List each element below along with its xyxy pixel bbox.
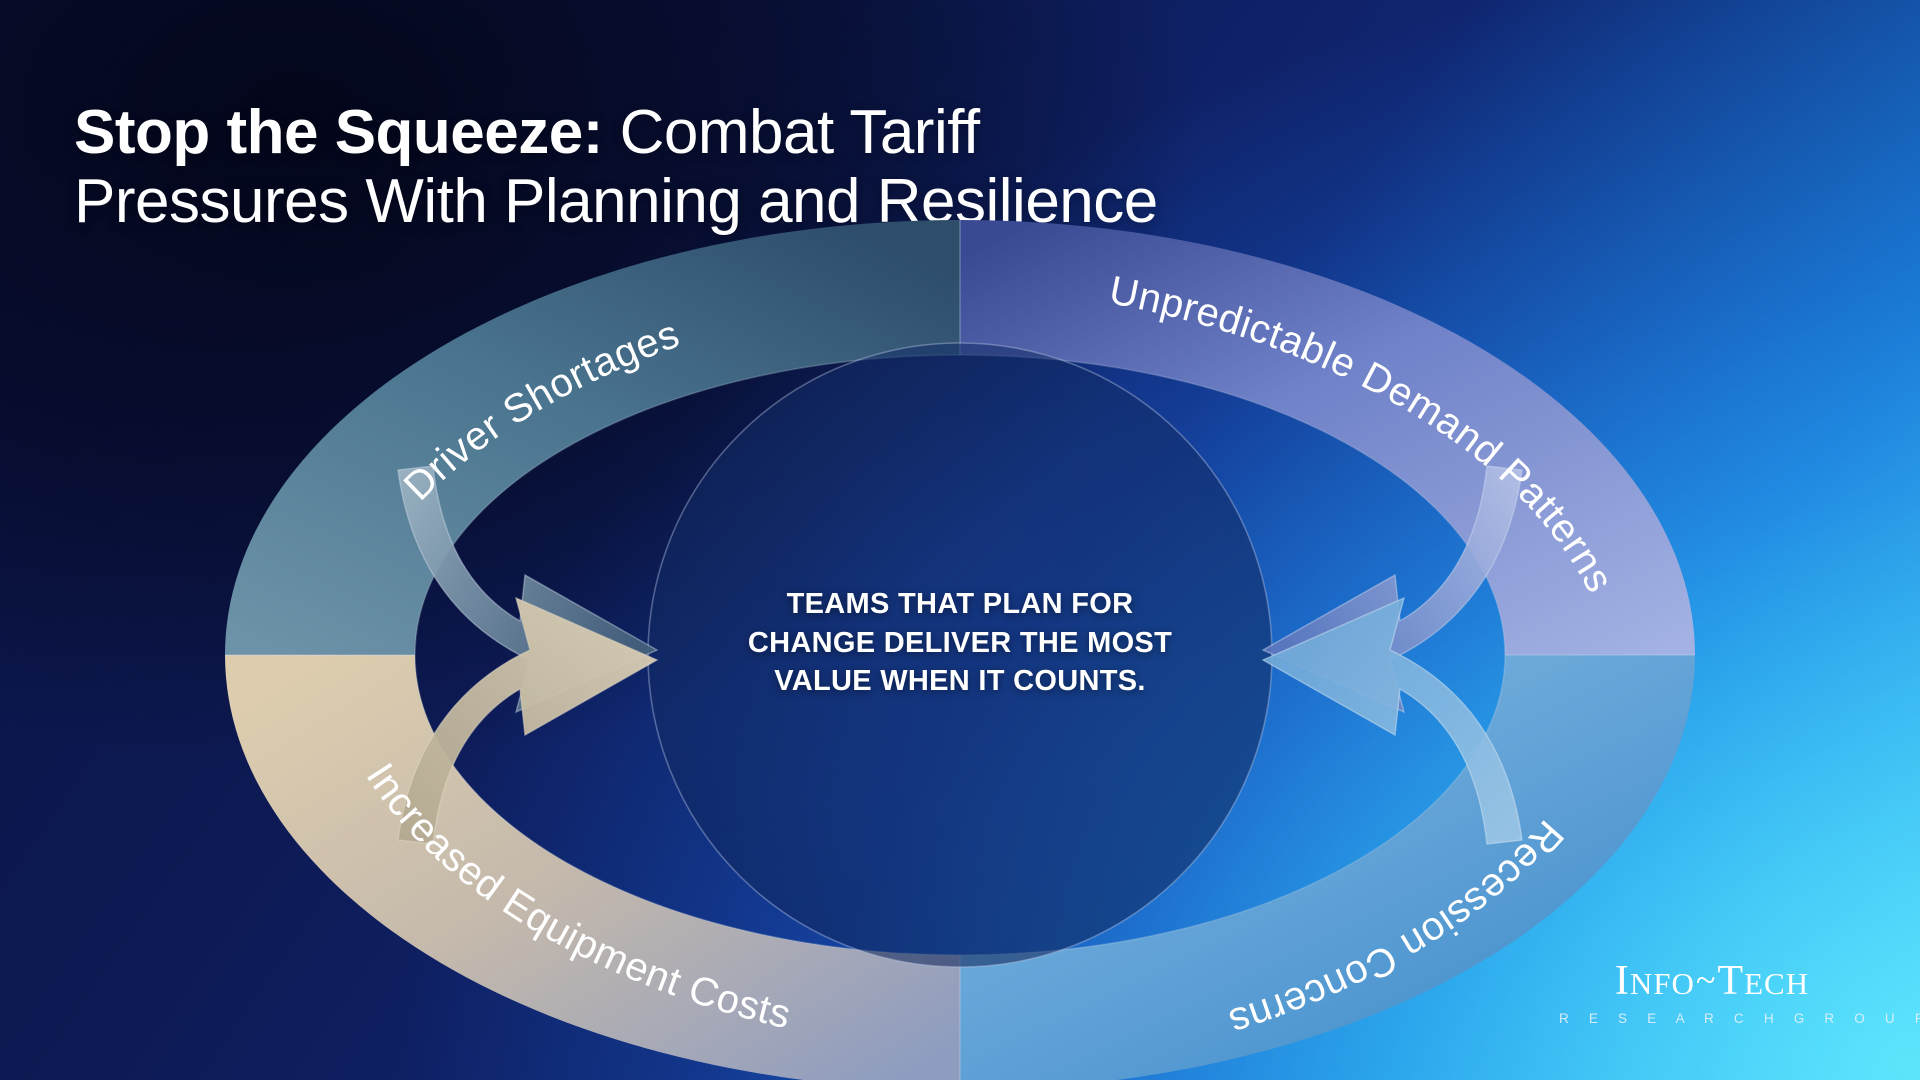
logo-tilde: ~ — [1695, 960, 1717, 1000]
center-statement-line-3: VALUE WHEN IT COUNTS. — [672, 662, 1248, 701]
info-tech-logo: INFO~TECH R E S E A R C H G R O U P — [1552, 960, 1872, 1026]
center-statement-line-1: TEAMS THAT PLAN FOR — [672, 585, 1248, 624]
logo-tagline: R E S E A R C H G R O U P — [1552, 1011, 1872, 1026]
cycle-ring-diagram: Driver Shortages Unpredictable Demand Pa… — [0, 0, 1920, 1080]
logo-cap-t: T — [1717, 958, 1744, 1004]
logo-wordmark: INFO~TECH — [1552, 960, 1872, 1002]
center-statement: TEAMS THAT PLAN FOR CHANGE DELIVER THE M… — [672, 585, 1248, 701]
logo-tech-rest: ECH — [1744, 966, 1809, 1001]
logo-info-rest: NFO — [1630, 966, 1695, 1001]
logo-cap-i: I — [1615, 958, 1630, 1004]
center-statement-line-2: CHANGE DELIVER THE MOST — [672, 624, 1248, 663]
